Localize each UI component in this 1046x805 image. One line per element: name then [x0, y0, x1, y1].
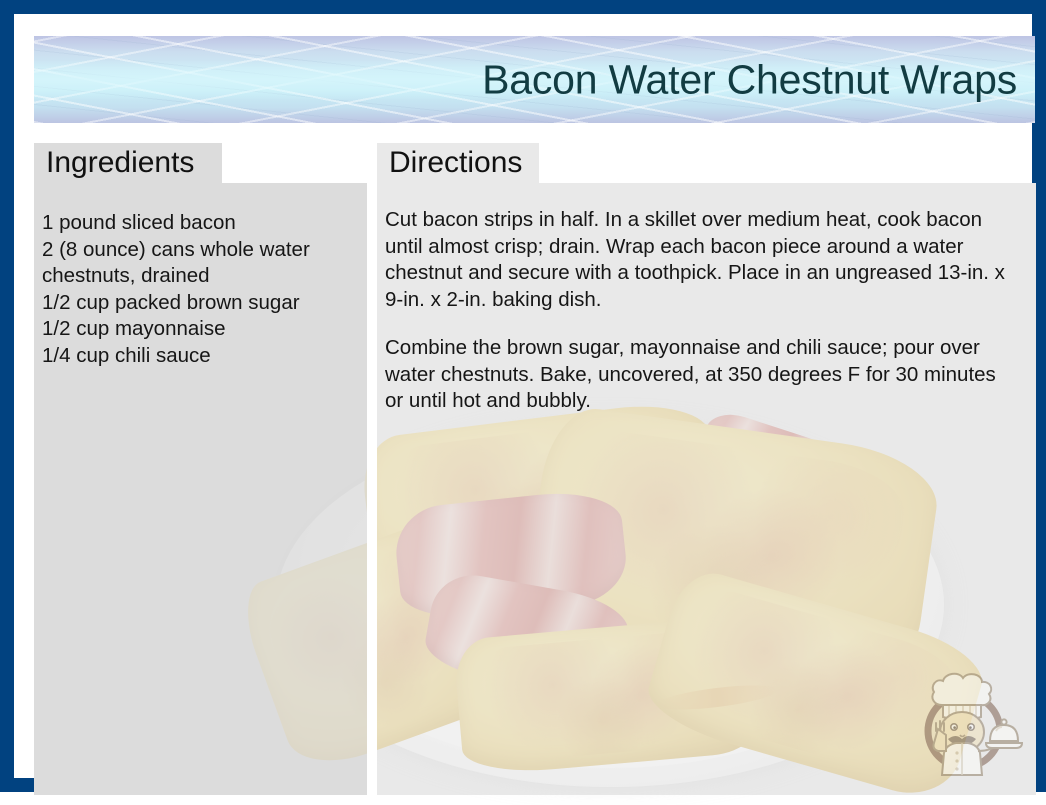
- list-item: chestnuts, drained: [42, 263, 357, 290]
- list-item: 1/2 cup packed brown sugar: [42, 290, 357, 317]
- ingredients-list: 1 pound sliced bacon 2 (8 ounce) cans wh…: [34, 183, 367, 369]
- directions-paragraph: Combine the brown sugar, mayonnaise and …: [385, 335, 1016, 415]
- title-banner: Bacon Water Chestnut Wraps: [34, 36, 1035, 123]
- slide-inner-canvas: Bacon Water Chestnut Wraps Ingredients D…: [14, 14, 1032, 778]
- list-item: 1/2 cup mayonnaise: [42, 316, 357, 343]
- list-item: 1/4 cup chili sauce: [42, 343, 357, 370]
- tab-directions[interactable]: Directions: [377, 143, 539, 183]
- tab-ingredients-label: Ingredients: [46, 146, 194, 179]
- tab-directions-label: Directions: [389, 146, 522, 179]
- page-title: Bacon Water Chestnut Wraps: [482, 56, 1017, 103]
- list-item: 2 (8 ounce) cans whole water: [42, 237, 357, 264]
- panel-gutter: [367, 183, 377, 795]
- directions-panel: Cut bacon strips in half. In a skillet o…: [377, 183, 1036, 795]
- directions-body: Cut bacon strips in half. In a skillet o…: [377, 183, 1036, 415]
- recipe-slide: Bacon Water Chestnut Wraps Ingredients D…: [0, 0, 1046, 792]
- tab-ingredients[interactable]: Ingredients: [34, 143, 222, 183]
- directions-paragraph: Cut bacon strips in half. In a skillet o…: [385, 207, 1016, 313]
- list-item: 1 pound sliced bacon: [42, 210, 357, 237]
- ingredients-panel: 1 pound sliced bacon 2 (8 ounce) cans wh…: [34, 183, 367, 795]
